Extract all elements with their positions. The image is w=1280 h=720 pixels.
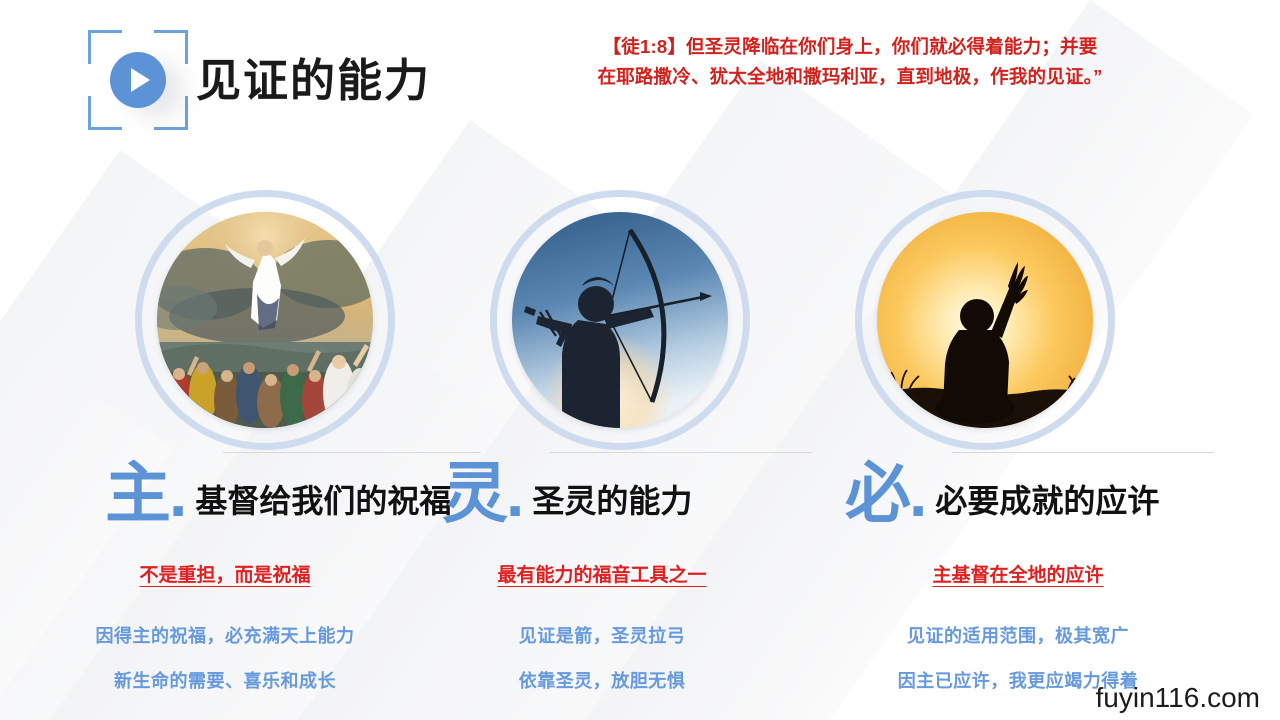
- column-marker-dot-2: .: [506, 462, 524, 524]
- site-watermark: fuyin116.com: [1096, 682, 1260, 714]
- column-marker-dot-1: .: [169, 462, 187, 524]
- slide-header: 见证的能力 【徒1:8】但圣灵降临在你们身上，你们就必得着能力；并要 在耶路撒冷…: [0, 0, 1280, 140]
- scripture-quote: 【徒1:8】但圣灵降临在你们身上，你们就必得着能力；并要 在耶路撒冷、犹太全地和…: [470, 32, 1230, 92]
- content-columns: 主 . 基督给我们的祝福 不是重担，而是祝福 因得主的祝福，必充满天上能力 新生…: [0, 452, 1280, 720]
- column-heading-row-2: 灵 . 圣灵的能力: [442, 462, 692, 524]
- circle-ring-3: [855, 190, 1115, 450]
- play-triangle-icon: [131, 68, 150, 92]
- circle-ring-1: [135, 190, 395, 450]
- column-body-line-1b: 新生命的需要、喜乐和成长: [15, 667, 435, 693]
- square-frame-icon: [88, 30, 188, 130]
- column-body-line-3a: 见证的适用范围，极其宽广: [808, 622, 1228, 648]
- circle-ring-2: [490, 190, 750, 450]
- column-heading-2: 圣灵的能力: [532, 481, 692, 521]
- image-row: [0, 190, 1280, 450]
- column-marker-2: 灵: [442, 462, 508, 524]
- column-divider-2: [550, 452, 812, 453]
- circle-image-1: [135, 190, 395, 450]
- circle-image-3: [855, 190, 1115, 450]
- column-subtitle-2: 最有能力的福音工具之一: [392, 560, 812, 587]
- column-divider-1: [223, 452, 481, 453]
- column-heading-row-3: 必 . 必要成就的应许: [845, 462, 1159, 524]
- scripture-line-2: 在耶路撒冷、犹太全地和撒玛利亚，直到地极，作我的见证。”: [470, 62, 1230, 92]
- column-body-line-1a: 因得主的祝福，必充满天上能力: [15, 622, 435, 648]
- column-subtitle-3: 主基督在全地的应许: [808, 560, 1228, 587]
- column-heading-3: 必要成就的应许: [935, 481, 1159, 521]
- scripture-line-1: 【徒1:8】但圣灵降临在你们身上，你们就必得着能力；并要: [470, 32, 1230, 62]
- column-heading-row-1: 主 . 基督给我们的祝福: [105, 462, 451, 524]
- circle-image-2: [490, 190, 750, 450]
- column-marker-1: 主: [105, 462, 171, 524]
- play-button-icon[interactable]: [110, 52, 166, 108]
- column-marker-dot-3: .: [909, 462, 927, 524]
- slide-canvas: 见证的能力 【徒1:8】但圣灵降临在你们身上，你们就必得着能力；并要 在耶路撒冷…: [0, 0, 1280, 720]
- column-body-line-2b: 依靠圣灵，放胆无惧: [392, 667, 812, 693]
- page-title: 见证的能力: [196, 44, 431, 109]
- column-divider-3: [952, 452, 1214, 453]
- column-marker-3: 必: [845, 462, 911, 524]
- column-body-line-2a: 见证是箭，圣灵拉弓: [392, 622, 812, 648]
- column-heading-1: 基督给我们的祝福: [195, 481, 451, 521]
- column-subtitle-1: 不是重担，而是祝福: [15, 560, 435, 587]
